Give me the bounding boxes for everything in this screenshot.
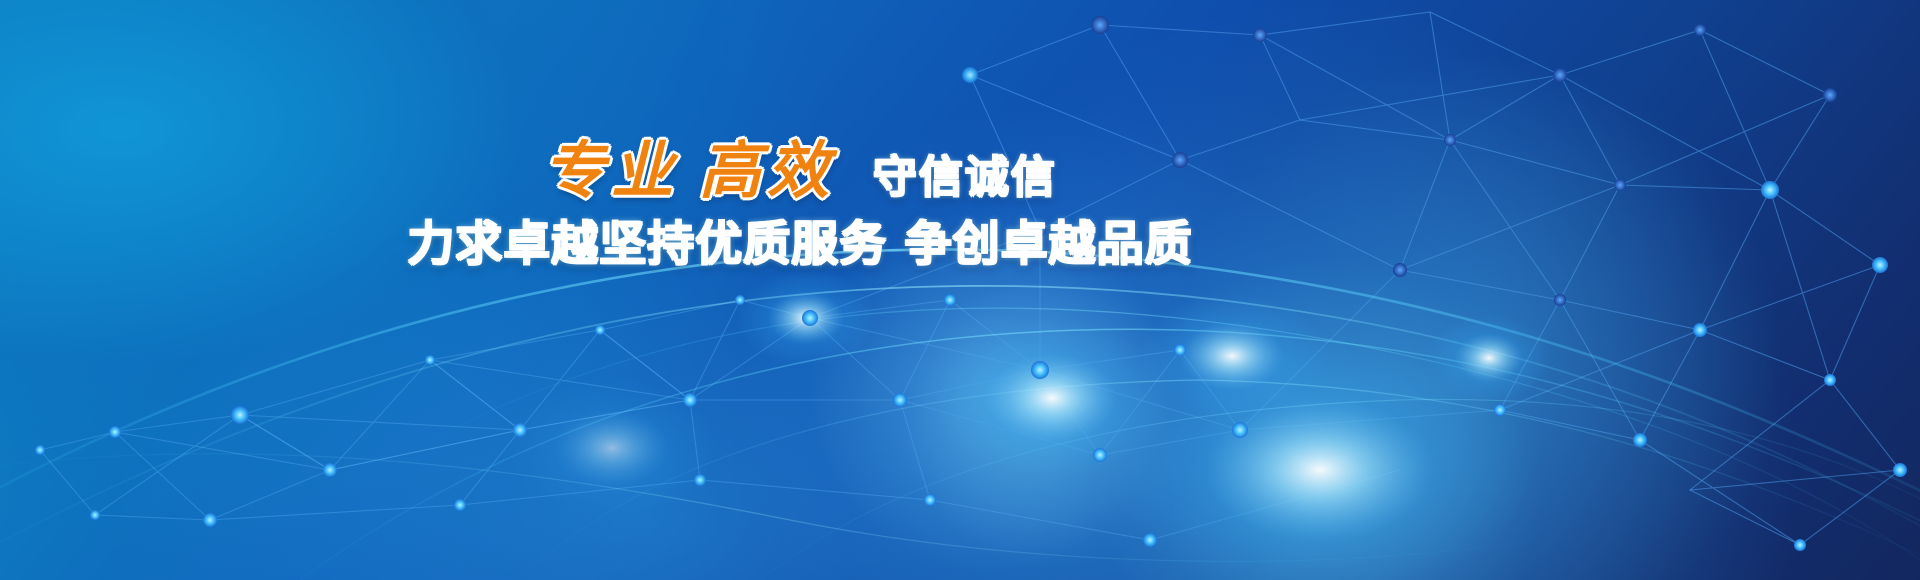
hero-banner: 专业 高效 守信诚信 力求卓越坚持优质服务 争创卓越品质 bbox=[0, 0, 1920, 580]
banner-slogan-block: 专业 高效 守信诚信 力求卓越坚持优质服务 争创卓越品质 bbox=[0, 140, 1600, 275]
headline-highlight-efficient: 高效 bbox=[699, 134, 835, 207]
headline-highlight-professional: 专业 bbox=[543, 134, 679, 207]
banner-subline: 力求卓越坚持优质服务 争创卓越品质 bbox=[0, 215, 1600, 275]
headline-plain-integrity: 守信诚信 bbox=[873, 152, 1057, 203]
network-background-graphic bbox=[0, 0, 1920, 580]
banner-headline: 专业 高效 守信诚信 bbox=[0, 140, 1600, 209]
network-node-dots bbox=[35, 16, 1907, 551]
